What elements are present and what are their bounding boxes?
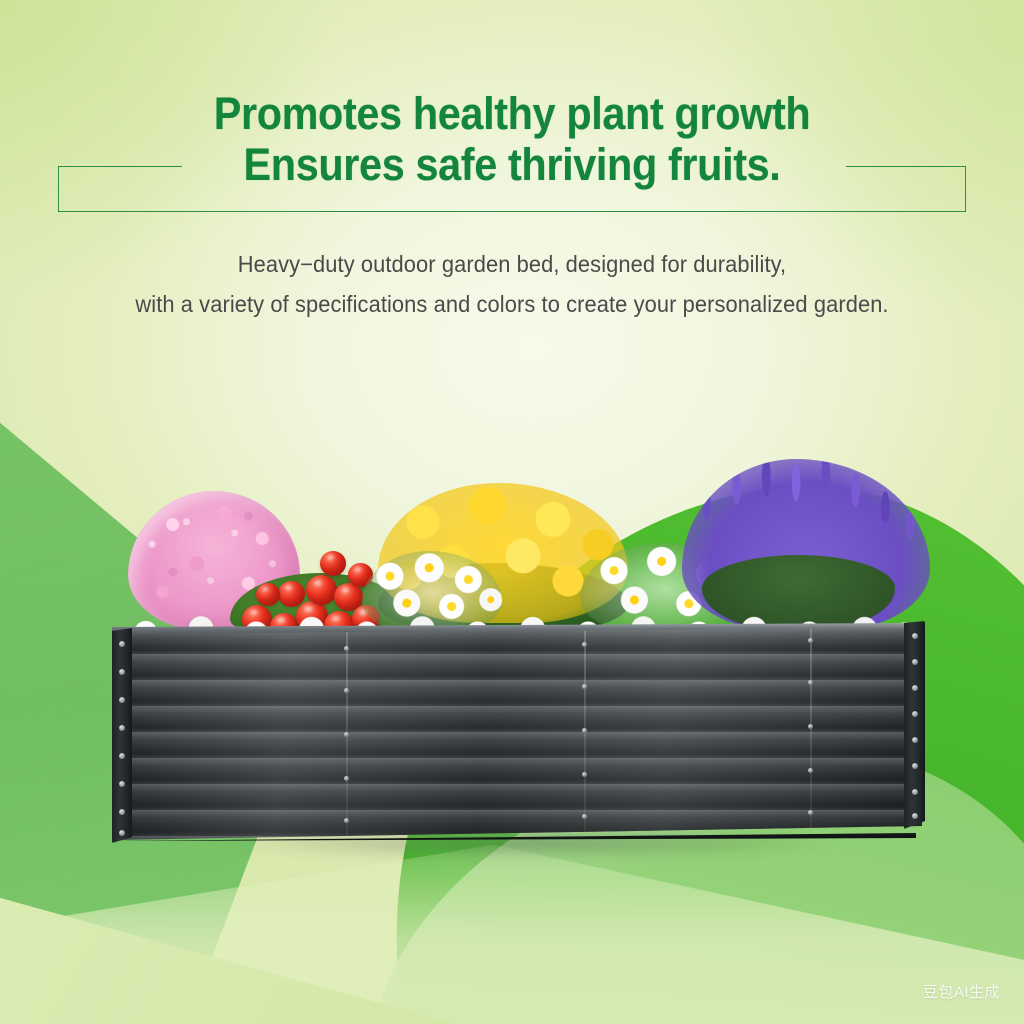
panel-screw xyxy=(808,810,813,815)
marketing-banner: Promotes healthy plant growth Ensures sa… xyxy=(0,0,1024,1024)
post-screw xyxy=(119,753,125,759)
metal-sheen xyxy=(110,628,925,840)
panel-screw xyxy=(344,688,349,693)
post-screw xyxy=(119,781,125,787)
tomato-fruit xyxy=(256,583,280,606)
panel-screw xyxy=(808,724,813,729)
post-screw xyxy=(912,633,918,639)
panel-screw xyxy=(582,684,587,689)
tomato-fruit xyxy=(278,581,305,607)
corrugated-metal-bed-body xyxy=(110,628,925,840)
panel-screw xyxy=(582,772,587,777)
post-screw xyxy=(119,725,125,731)
product-ground-shadow xyxy=(140,833,910,879)
panel-screw xyxy=(582,642,587,647)
panel-seam xyxy=(584,628,586,840)
subtitle-line-2: with a variety of specifications and col… xyxy=(26,284,999,324)
subtitle: Heavy−duty outdoor garden bed, designed … xyxy=(26,244,999,324)
panel-screw xyxy=(344,732,349,737)
tomato-fruit xyxy=(320,551,346,576)
corner-post-right xyxy=(904,621,925,829)
panel-screw xyxy=(582,814,587,819)
post-screw xyxy=(912,789,918,795)
panel-screw xyxy=(582,728,587,733)
post-screw xyxy=(119,809,125,815)
panel-screw xyxy=(344,818,349,823)
post-screw xyxy=(119,830,125,836)
panel-screw xyxy=(808,638,813,643)
tomato-fruit xyxy=(306,575,337,605)
subtitle-line-1: Heavy−duty outdoor garden bed, designed … xyxy=(26,244,999,284)
product-raised-garden-bed xyxy=(110,455,925,850)
corner-post-left xyxy=(112,627,132,843)
post-screw xyxy=(912,685,918,691)
panel-screw xyxy=(808,768,813,773)
purple-lavender xyxy=(682,459,930,631)
headline: Promotes healthy plant growth Ensures sa… xyxy=(41,88,983,190)
post-screw xyxy=(912,711,918,717)
panel-screw xyxy=(344,776,349,781)
headline-line-1: Promotes healthy plant growth xyxy=(41,88,983,139)
post-screw xyxy=(912,813,918,819)
post-screw xyxy=(912,763,918,769)
post-screw xyxy=(119,669,125,675)
post-screw xyxy=(912,737,918,743)
panel-screw xyxy=(344,646,349,651)
post-screw xyxy=(119,641,125,647)
post-screw xyxy=(912,659,918,665)
post-screw xyxy=(119,697,125,703)
ai-watermark: 豆包AI生成 xyxy=(923,981,1000,1002)
panel-screw xyxy=(808,680,813,685)
panel-seam xyxy=(810,628,812,840)
headline-line-2: Ensures safe thriving fruits. xyxy=(41,139,983,190)
